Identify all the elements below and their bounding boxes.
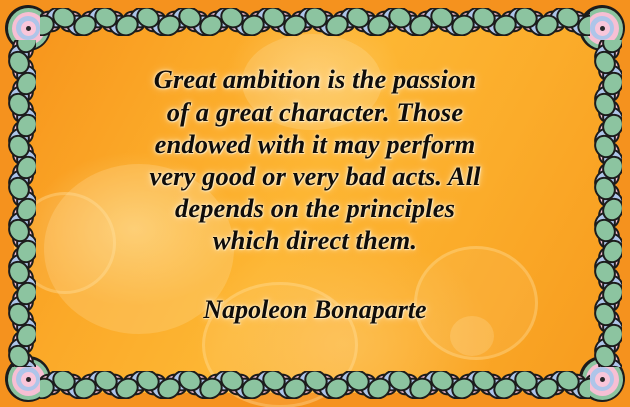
rosette-ring-center [21,372,36,387]
rosette-ring-center [595,21,610,36]
card-text-container: Great ambition is the passion of a great… [14,14,616,393]
rosette-center-dot [26,377,31,382]
quote-author: Napoleon Bonaparte [203,294,426,325]
rosette-center-dot [26,26,31,31]
rosette-center-dot [600,377,605,382]
braid-border-right [594,40,622,367]
quote-card: Great ambition is the passion of a great… [0,0,630,407]
braid-border-left [8,40,36,367]
rosette-ring-center [21,21,36,36]
rosette-ring-pink [586,363,619,396]
rosette-ring-blue [16,16,40,40]
quote-text: Great ambition is the passion of a great… [131,63,498,256]
quote-line: endowed with it may perform [149,128,480,160]
quote-line: of a great character. Those [149,96,480,128]
rosette-ring-blue [16,367,40,391]
rosette-center-dot [600,26,605,31]
quote-line: which direct them. [149,224,480,256]
quote-line: very good or very bad acts. All [149,160,480,192]
rosette-ring-blue [590,367,614,391]
quote-line: Great ambition is the passion [149,63,480,95]
rosette-ring-blue [590,16,614,40]
braid-border-bottom [40,371,590,399]
braid-border-top [40,8,590,36]
quote-line: depends on the principles [149,192,480,224]
rosette-ring-center [595,372,610,387]
